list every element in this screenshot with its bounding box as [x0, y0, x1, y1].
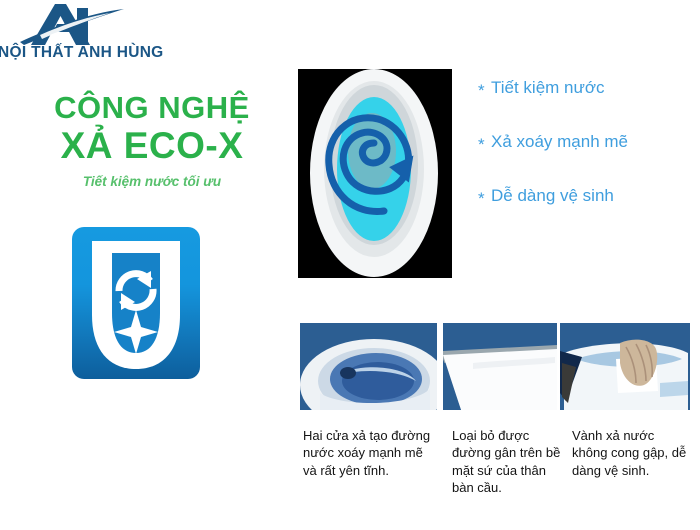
asterisk-bullet-icon: *	[478, 79, 491, 99]
panel-photo-hand-wiping-rim	[560, 323, 690, 410]
feature-bullet-item: * Xả xoáy mạnh mẽ	[478, 133, 693, 153]
asterisk-bullet-icon: *	[478, 133, 491, 153]
panel-caption: Hai cửa xả tạo đường nước xoáy mạnh mẽ v…	[303, 427, 435, 479]
panel-photo-smooth-ceramic-body	[443, 323, 557, 410]
brand-wordmark: NỘI THẤT ANH HÙNG	[0, 44, 168, 62]
panel-photo-toilet-interior	[300, 323, 437, 410]
feature-bullet-item: * Tiết kiệm nước	[478, 79, 693, 99]
eco-x-badge	[72, 227, 200, 379]
asterisk-bullet-icon: *	[478, 187, 491, 207]
brand-logo: NỘI THẤT ANH HÙNG	[0, 2, 160, 64]
panel-caption: Vành xả nước không cong gập, dễ dàng vệ …	[572, 427, 690, 479]
feature-bullet-item: * Dễ dàng vệ sinh	[478, 187, 693, 207]
headline-group: CÔNG NGHỆ XẢ ECO-X Tiết kiệm nước tối ưu	[24, 92, 280, 189]
feature-bullet-label: Xả xoáy mạnh mẽ	[491, 133, 628, 152]
feature-bullet-list: * Tiết kiệm nước * Xả xoáy mạnh mẽ * Dễ …	[478, 79, 693, 241]
feature-bullet-label: Dễ dàng vệ sinh	[491, 187, 614, 206]
panel-caption: Loại bỏ được đường gân trên bề mặt sứ củ…	[452, 427, 564, 496]
headline-line-1: CÔNG NGHỆ	[24, 92, 280, 125]
headline-line-2: XẢ ECO-X	[24, 127, 280, 166]
hero-photo-toilet-swirl	[298, 69, 452, 278]
ah-monogram-logo-icon	[14, 2, 130, 46]
toilet-bowl-recycle-sparkle-icon	[72, 227, 200, 379]
headline-subtitle: Tiết kiệm nước tối ưu	[24, 174, 280, 189]
feature-bullet-label: Tiết kiệm nước	[491, 79, 605, 98]
